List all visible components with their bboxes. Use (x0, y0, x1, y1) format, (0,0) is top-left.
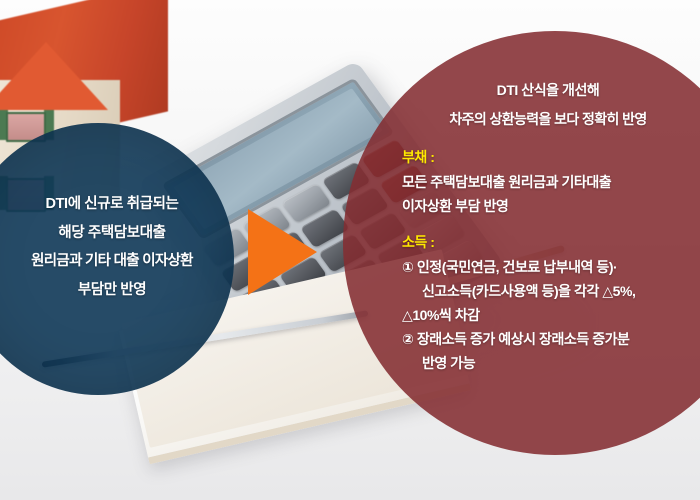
house-gable-roof (0, 42, 108, 110)
income-line-4: ② 장래소득 증가 예상시 장래소득 증가분 (402, 327, 694, 351)
debt-line-2: 이자상환 부담 반영 (402, 194, 694, 218)
income-line-5: 반영 가능 (402, 351, 694, 375)
debt-line-1: 모든 주택담보대출 원리금과 기타대출 (402, 170, 694, 194)
after-heading-line-2: 차주의 상환능력을 보다 정확히 반영 (402, 105, 694, 134)
debt-label: 부채 : (402, 144, 694, 170)
after-heading-line-1: DTI 산식을 개선해 (402, 76, 694, 105)
after-heading: DTI 산식을 개선해 차주의 상환능력을 보다 정확히 반영 (402, 76, 694, 134)
infographic-poster: DTI에 신규로 취급되는 해당 주택담보대출 원리금과 기타 대출 이자상환 … (0, 0, 700, 500)
income-line-3: △10%씩 차감 (402, 303, 694, 327)
debt-section: 부채 : 모든 주택담보대출 원리금과 기타대출 이자상환 부담 반영 (402, 144, 694, 218)
income-line-1: ① 인정(국민연금, 건보료 납부내역 등)· (402, 255, 694, 279)
debt-body: 모든 주택담보대출 원리금과 기타대출 이자상환 부담 반영 (402, 170, 694, 218)
income-section: 소득 : ① 인정(국민연금, 건보료 납부내역 등)· 신고소득(카드사용액 … (402, 229, 694, 375)
after-circle-text: DTI 산식을 개선해 차주의 상환능력을 보다 정확히 반영 부채 : 모든 … (402, 76, 694, 375)
income-body: ① 인정(국민연금, 건보료 납부내역 등)· 신고소득(카드사용액 등)을 각… (402, 255, 694, 375)
income-label: 소득 : (402, 229, 694, 255)
income-line-2: 신고소득(카드사용액 등)을 각각 △5%, (402, 279, 694, 303)
before-line-4: 부담만 반영 (0, 276, 224, 305)
before-line-3: 원리금과 기타 대출 이자상환 (0, 247, 224, 276)
before-line-2: 해당 주택담보대출 (0, 219, 224, 248)
before-line-1: DTI에 신규로 취급되는 (0, 190, 224, 219)
orange-right-arrow-icon (248, 209, 317, 295)
before-circle-text: DTI에 신규로 취급되는 해당 주택담보대출 원리금과 기타 대출 이자상환 … (0, 190, 224, 304)
